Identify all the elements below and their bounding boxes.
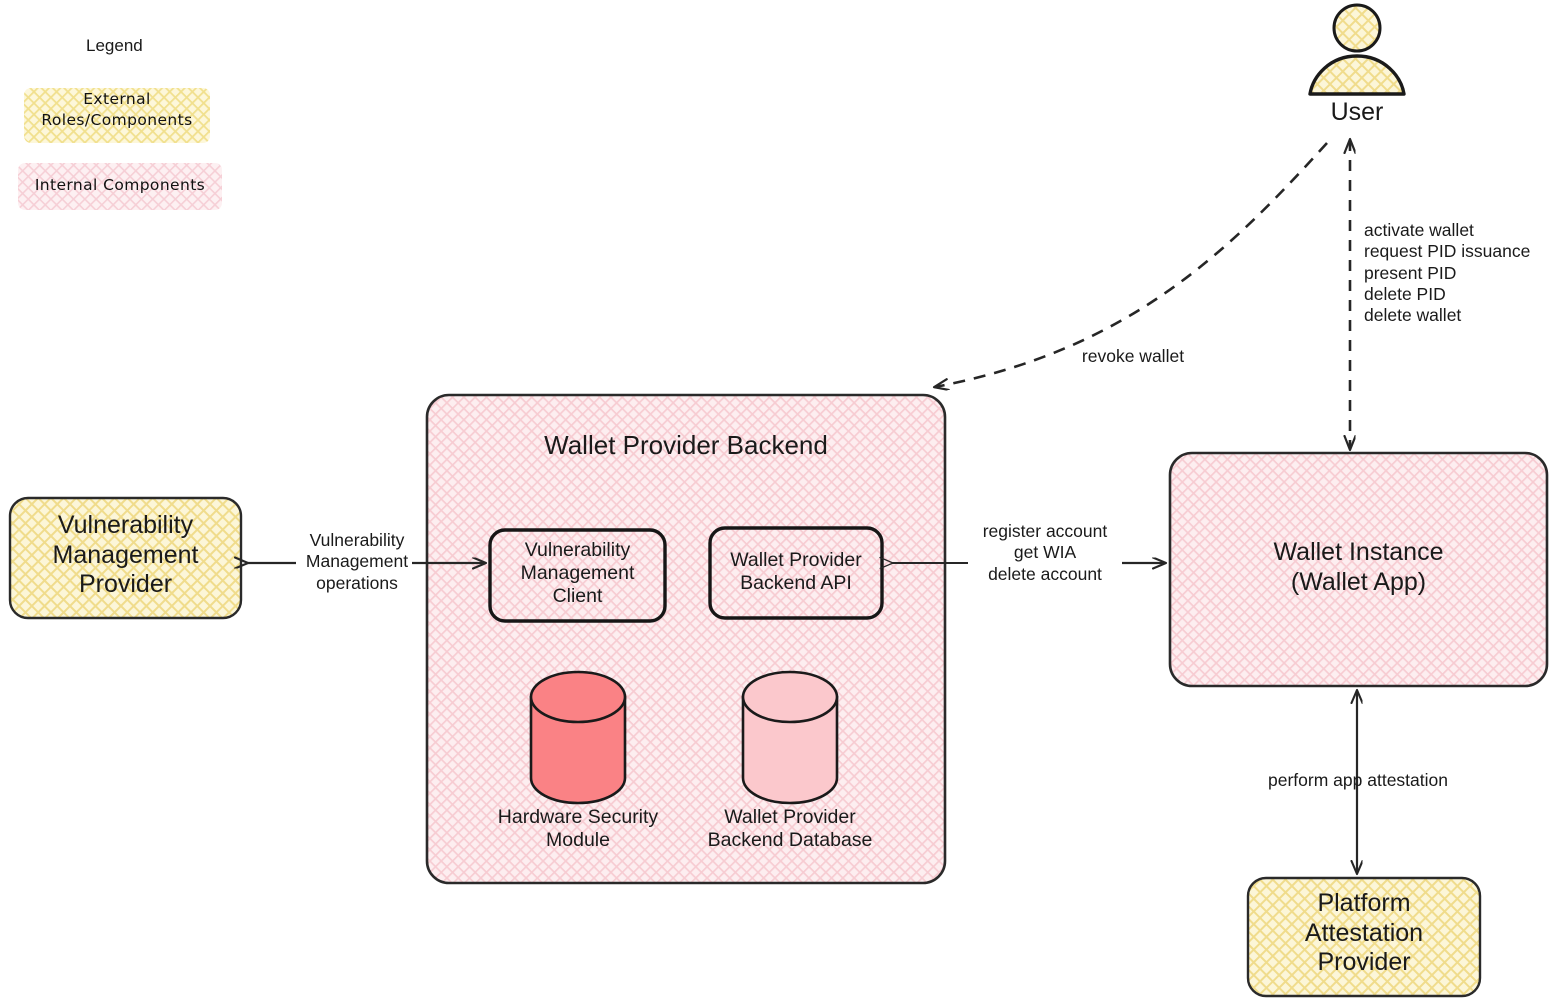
legend-title: Legend [86,36,143,56]
edge-label-revoke-wallet: revoke wallet [1059,346,1207,367]
wallet-provider-backend-database-cylinder[interactable] [743,672,837,803]
edge-label-vulnerability-management-operations: Vulnerability Management operations [292,530,422,594]
wallet-provider-backend-container[interactable] [427,395,945,883]
edge-label-user-wallet-instance: activate wallet request PID issuance pre… [1364,220,1563,327]
edge-label-register-account: register account get WIA delete account [965,521,1125,585]
wallet-instance-box[interactable] [1170,453,1547,686]
hardware-security-module-cylinder[interactable] [531,672,625,803]
legend-item-internal-label: Internal Components [18,175,222,196]
diagram-shapes [0,0,1563,1006]
diagram-canvas: Legend External Roles/Components Interna… [0,0,1563,1006]
legend-item-external-label: External Roles/Components [24,89,210,131]
vulnerability-management-provider-box[interactable] [10,498,241,618]
platform-attestation-provider-box[interactable] [1248,878,1480,996]
user-actor-icon [1310,5,1404,94]
edge-label-perform-app-attestation: perform app attestation [1240,770,1476,791]
